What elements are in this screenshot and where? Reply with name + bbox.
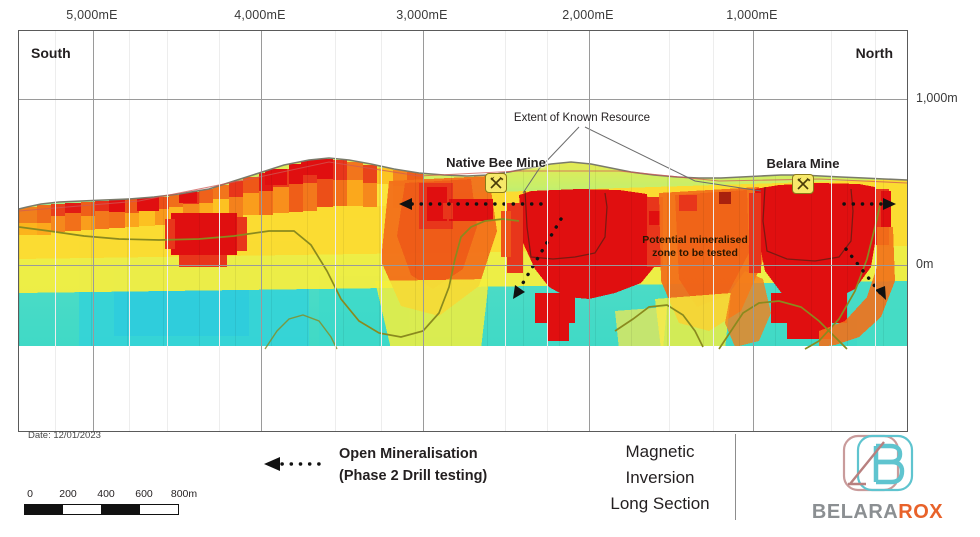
potential-zone-line1: Potential mineralised [642,234,748,246]
y-tick-label-1000m: 1,000m [916,91,958,105]
scale-bar: 0 200 400 600 800m [24,488,214,515]
belararox-wordmark: BELARAROX [790,501,965,524]
direction-label-south: South [31,45,71,61]
title-line-2: Inversion [585,465,735,491]
gridline-1000mE [753,31,754,431]
x-tick-label-1000mE: 1,000mE [726,8,777,22]
x-tick-label-5000mE: 5,000mE [66,8,117,22]
logo-text-primary: BELARA [812,501,898,523]
logo-text-accent: ROX [898,501,943,523]
date-label: Date: 12/01/2023 [28,430,101,441]
extent-known-resource-label: Extent of Known Resource [514,112,650,124]
gridline-0m [19,265,907,266]
open-mineralisation-line2: (Phase 2 Drill testing) [339,465,487,487]
scale-bar-graphic [24,504,179,515]
belararox-logo: BELARAROX [790,432,965,528]
open-mineralisation-line1: Open Mineralisation [339,443,487,465]
open-mineralisation-legend: Open Mineralisation (Phase 2 Drill testi… [339,443,487,487]
native-bee-mine-icon [485,173,507,193]
gridline-4000mE [261,31,262,431]
scale-tick-0: 0 [27,488,33,500]
gridline-1000m [19,99,907,100]
belararox-logomark [832,432,924,498]
scale-tick-600: 600 [135,488,153,500]
title-line-3: Long Section [585,491,735,517]
x-tick-label-4000mE: 4,000mE [234,8,285,22]
gridline-5000mE [93,31,94,431]
potential-mineralised-zone-label: Potential mineralised zone to be tested [642,234,748,260]
top-axis: 5,000mE 4,000mE 3,000mE 2,000mE 1,000mE [0,0,980,30]
gridline-3000mE [423,31,424,431]
belara-mine-icon [792,174,814,194]
scale-tick-400: 400 [97,488,115,500]
title-line-1: Magnetic [585,439,735,465]
belara-mine-label: Belara Mine [767,156,840,171]
scale-tick-200: 200 [59,488,77,500]
legend-divider [735,434,736,520]
direction-label-north: North [856,45,893,61]
magnetic-inversion-heatmap [19,31,907,431]
native-bee-mine-label: Native Bee Mine [446,155,546,170]
gridline-2000mE [589,31,590,431]
section-plot-area: South North Extent of Known Resource Nat… [18,30,908,432]
x-tick-label-3000mE: 3,000mE [396,8,447,22]
scale-tick-800: 800m [171,488,197,500]
x-tick-label-2000mE: 2,000mE [562,8,613,22]
magnetic-inversion-figure: 5,000mE 4,000mE 3,000mE 2,000mE 1,000mE … [0,0,980,537]
legend-arrow [258,455,326,473]
figure-title: Magnetic Inversion Long Section [585,439,735,517]
y-tick-label-0m: 0m [916,257,933,271]
potential-zone-line2: zone to be tested [652,247,738,259]
